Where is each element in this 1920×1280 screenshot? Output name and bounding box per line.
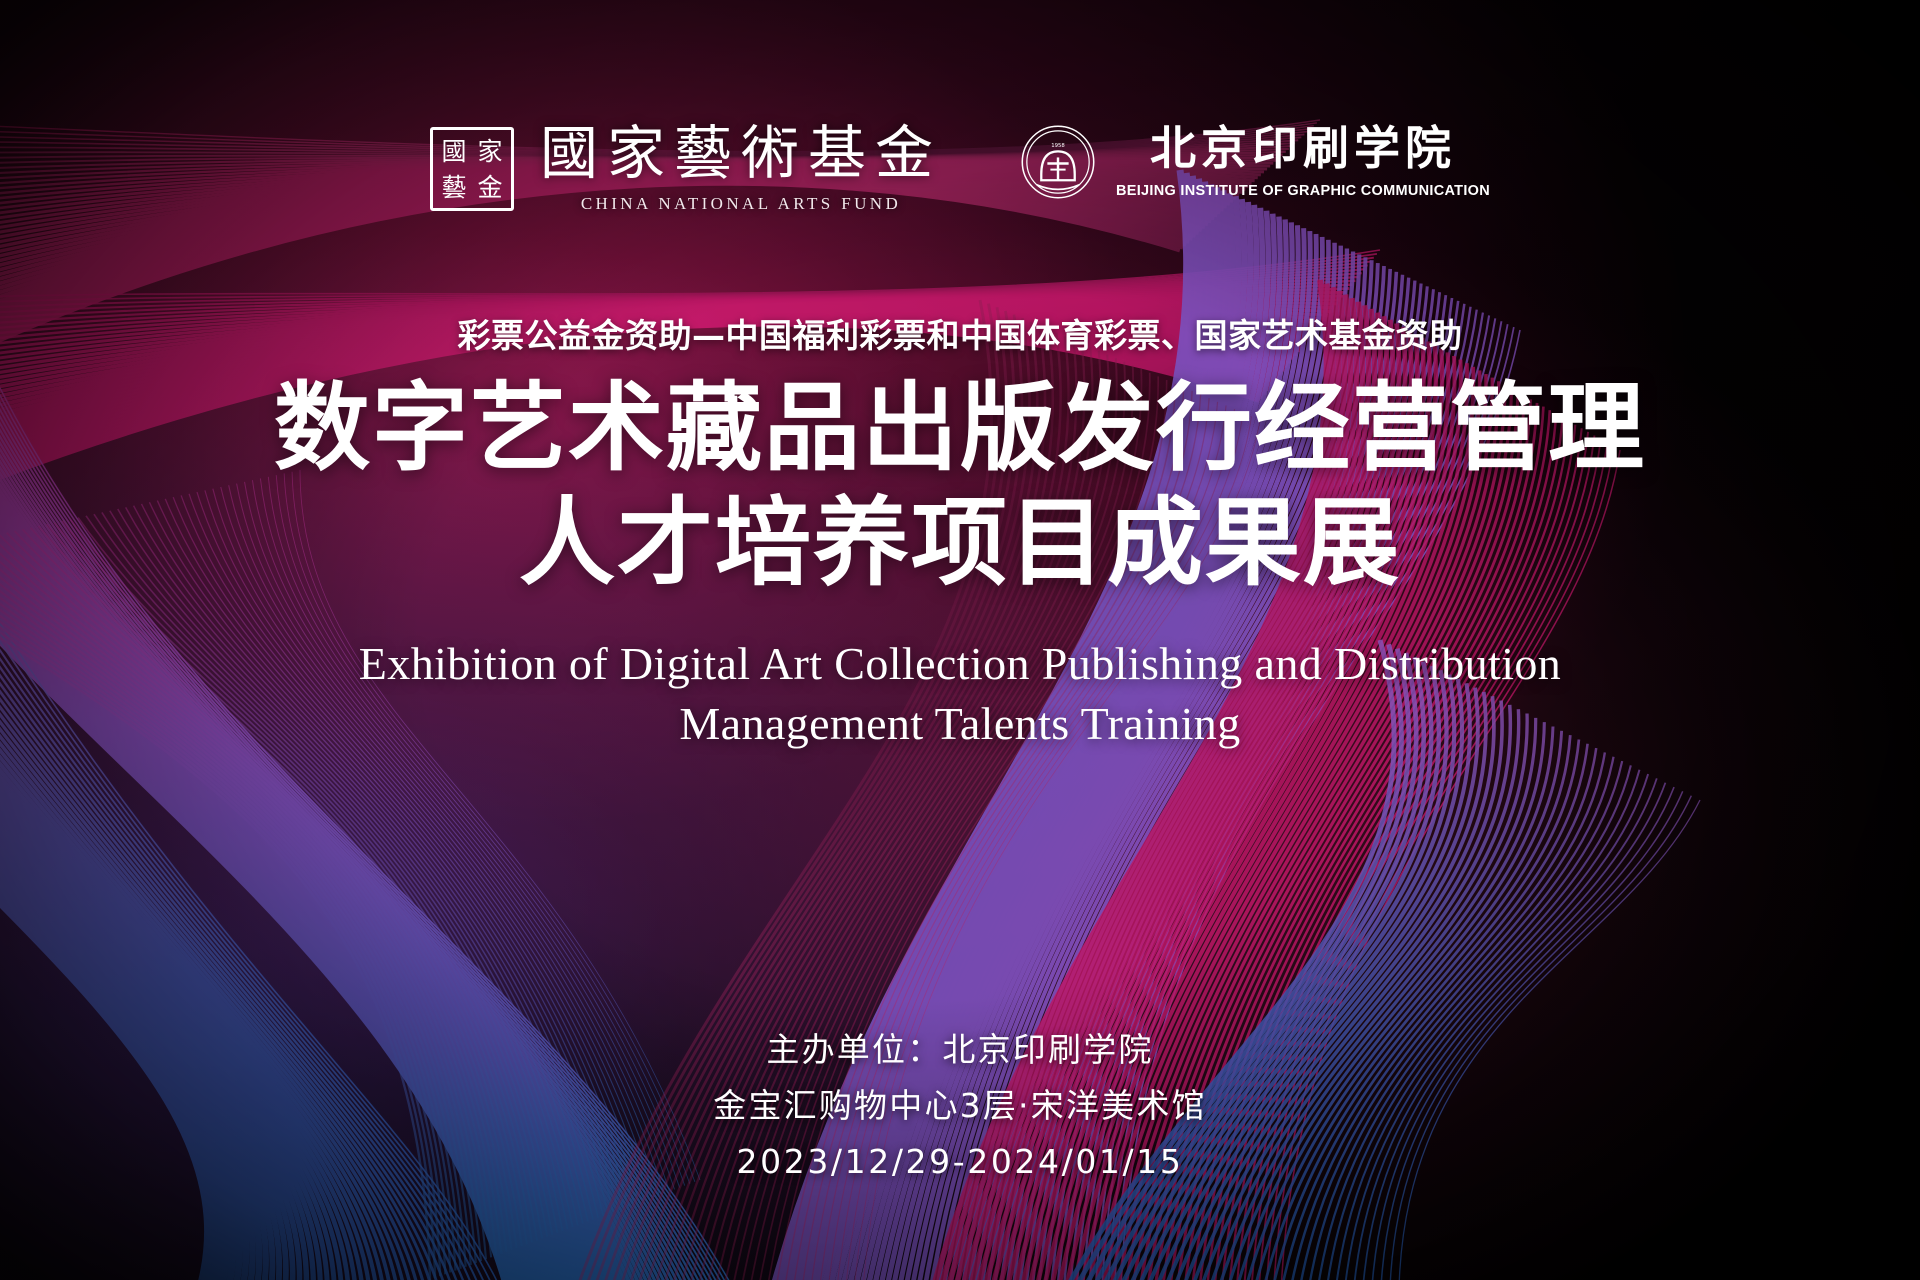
funding-statement: 彩票公益金资助—中国福利彩票和中国体育彩票、国家艺术基金资助 (0, 316, 1920, 356)
seal-char-1: 國 (441, 139, 466, 164)
bigc-chinese-name: 北京印刷学院 (1150, 125, 1456, 171)
bigc-english-name: BEIJING INSTITUTE OF GRAPHIC COMMUNICATI… (1116, 183, 1490, 199)
cnaf-seal-icon: 國 家 藝 金 (430, 127, 514, 211)
sponsor-logo-bar: 國 家 藝 金 國家藝術基金 CHINA NATIONAL ARTS FUND … (0, 124, 1920, 214)
date-range-line: 2023/12/29-2024/01/15 (0, 1134, 1920, 1190)
bigc-seal-icon: 1958 (1020, 124, 1096, 200)
svg-text:1958: 1958 (1051, 143, 1065, 149)
venue-line: 金宝汇购物中心3层·宋洋美术馆 (0, 1078, 1920, 1134)
cnaf-chinese-name: 國家藝術基金 (540, 124, 942, 182)
exhibition-poster: 國 家 藝 金 國家藝術基金 CHINA NATIONAL ARTS FUND … (0, 0, 1920, 1280)
bigc-logo-text: 北京印刷学院 BEIJING INSTITUTE OF GRAPHIC COMM… (1116, 125, 1490, 199)
seal-char-3: 藝 (441, 175, 466, 200)
cnaf-logo: 國 家 藝 金 國家藝術基金 CHINA NATIONAL ARTS FUND (430, 124, 942, 214)
cnaf-logo-text: 國家藝術基金 CHINA NATIONAL ARTS FUND (540, 124, 942, 214)
english-title-line-2: Management Talents Training (0, 694, 1920, 754)
seal-char-4: 金 (477, 175, 502, 200)
main-title-line-2: 人才培养项目成果展 (0, 487, 1920, 600)
bigc-logo: 1958 北京印刷学院 BEIJING INSTITUTE OF GRAPHIC… (1020, 124, 1490, 200)
seal-char-2: 家 (477, 139, 502, 164)
english-title-line-1: Exhibition of Digital Art Collection Pub… (0, 634, 1920, 694)
headline-block: 彩票公益金资助—中国福利彩票和中国体育彩票、国家艺术基金资助 数字艺术藏品出版发… (0, 316, 1920, 754)
organizer-line: 主办单位：北京印刷学院 (0, 1022, 1920, 1078)
footer-block: 主办单位：北京印刷学院 金宝汇购物中心3层·宋洋美术馆 2023/12/29-2… (0, 1022, 1920, 1190)
cnaf-english-name: CHINA NATIONAL ARTS FUND (581, 194, 901, 214)
main-title-line-1: 数字艺术藏品出版发行经营管理 (0, 372, 1920, 485)
